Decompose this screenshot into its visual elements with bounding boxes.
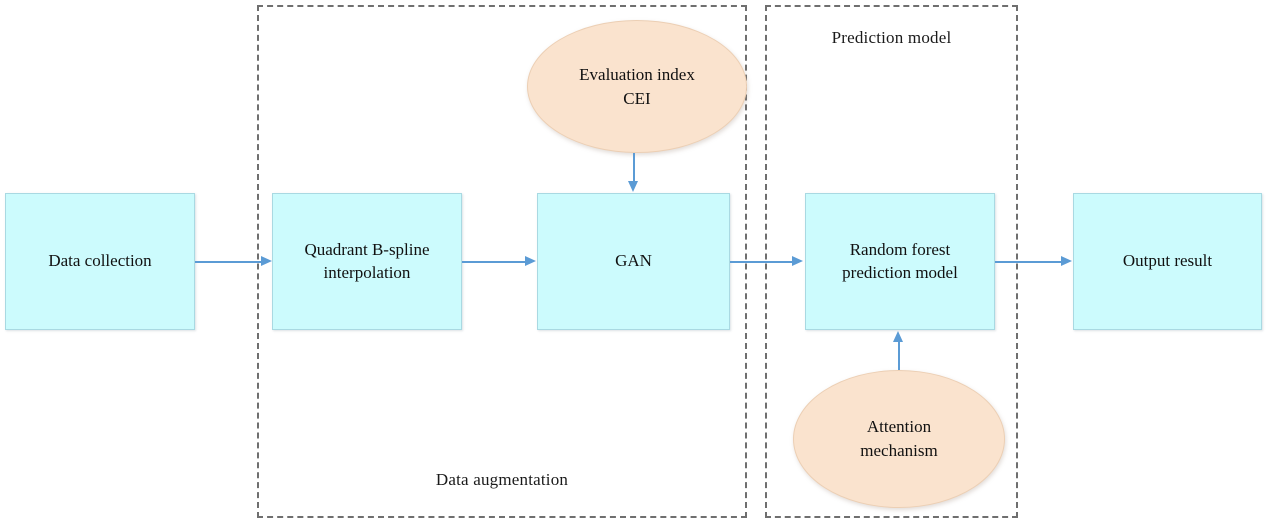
node-attention-label: Attention mechanism [860, 415, 937, 463]
edge-random-forest-to-output-result [995, 261, 1061, 263]
node-attention-line-1: Attention [867, 417, 931, 436]
node-gan-label: GAN [609, 250, 658, 273]
group-label-data-augmentation: Data augmentation [257, 470, 747, 490]
edge-attention-to-random-forest-arrowhead [893, 331, 903, 342]
node-output-result[interactable]: Output result [1073, 193, 1262, 330]
node-data-collection-label: Data collection [42, 250, 157, 273]
node-gan[interactable]: GAN [537, 193, 730, 330]
node-attention-mechanism[interactable]: Attention mechanism [793, 370, 1005, 508]
node-bspline-line-1: Quadrant B-spline [304, 240, 429, 259]
node-output-result-label: Output result [1117, 250, 1218, 273]
node-data-collection[interactable]: Data collection [5, 193, 195, 330]
edge-evaluation-index-to-gan-arrowhead [628, 181, 638, 192]
node-bspline-line-2: interpolation [324, 263, 411, 282]
edge-gan-to-random-forest-arrowhead [792, 256, 803, 266]
edge-data-collection-to-bspline-arrowhead [261, 256, 272, 266]
edge-bspline-to-gan-arrowhead [525, 256, 536, 266]
node-random-forest-label: Random forest prediction model [836, 239, 964, 285]
edge-gan-to-random-forest [730, 261, 792, 263]
node-evaluation-line-2: CEI [623, 89, 650, 108]
edge-data-collection-to-bspline [195, 261, 261, 263]
node-bspline-interpolation-label: Quadrant B-spline interpolation [298, 239, 435, 285]
node-random-forest-line-1: Random forest [850, 240, 951, 259]
node-random-forest-prediction-model[interactable]: Random forest prediction model [805, 193, 995, 330]
group-label-prediction-model: Prediction model [765, 28, 1018, 48]
node-bspline-interpolation[interactable]: Quadrant B-spline interpolation [272, 193, 462, 330]
edge-evaluation-index-to-gan [633, 153, 635, 182]
node-evaluation-index-cei[interactable]: Evaluation index CEI [527, 20, 747, 153]
edge-random-forest-to-output-result-arrowhead [1061, 256, 1072, 266]
node-attention-line-2: mechanism [860, 441, 937, 460]
node-evaluation-index-label: Evaluation index CEI [579, 63, 695, 111]
edge-bspline-to-gan [462, 261, 525, 263]
edge-attention-to-random-forest [898, 342, 900, 370]
node-evaluation-line-1: Evaluation index [579, 65, 695, 84]
flowchart-canvas: Data augmentation Prediction model Data … [0, 0, 1268, 524]
node-random-forest-line-2: prediction model [842, 263, 958, 282]
